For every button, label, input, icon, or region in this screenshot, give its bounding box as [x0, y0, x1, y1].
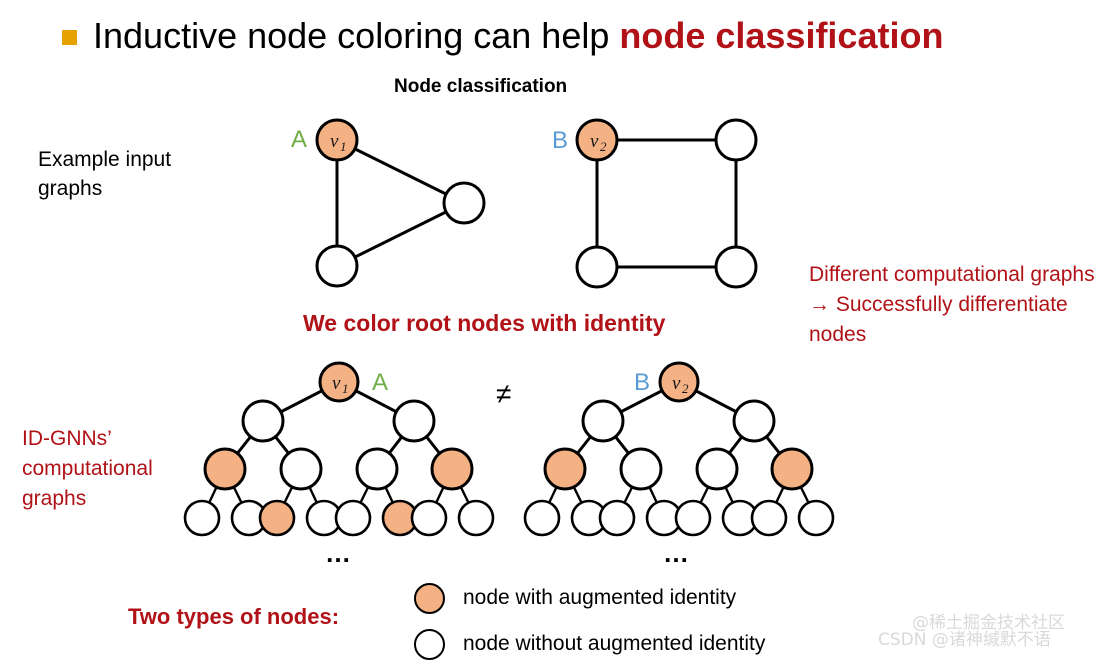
tree-left-root-subscript: 1 — [342, 381, 349, 396]
tree-left-l2-node-3 — [357, 449, 397, 489]
square-node-v2 — [577, 120, 617, 160]
square-node-bottom-right — [716, 247, 756, 287]
tree-left-l1-node-1 — [243, 401, 283, 441]
input-graph-square: v 2 B — [552, 120, 756, 287]
legend-item-plain: node without augmented identity — [414, 621, 765, 667]
tree-right-leaf-1 — [525, 501, 559, 535]
id-gnns-computational-graphs-label: ID-GNNs’ computational graphs — [22, 424, 207, 514]
two-types-of-nodes-label: Two types of nodes: — [128, 604, 339, 630]
tree-right-graph-label-b: B — [634, 369, 650, 396]
tree-right-leaf-8 — [799, 501, 833, 535]
bullet-square-icon — [62, 30, 77, 45]
triangle-node-right — [444, 183, 484, 223]
tree-left-l2-node-4 — [432, 449, 472, 489]
tree-right-l2-node-2 — [621, 449, 661, 489]
triangle-v1-subscript: 1 — [340, 139, 347, 154]
square-v2-subscript: 2 — [600, 139, 607, 154]
tree-right-root-label: v — [672, 373, 681, 394]
tree-left-leaf-2 — [232, 501, 266, 535]
not-equal-symbol: ≠ — [496, 378, 511, 410]
empty-circle-icon — [414, 629, 445, 660]
example-input-graphs-label: Example input graphs — [38, 145, 218, 203]
tree-right-l2-node-3 — [697, 449, 737, 489]
title-emphasis-part: node classification — [619, 15, 943, 56]
title-plain-part: Inductive node coloring can help — [93, 15, 619, 56]
different-computational-graphs-note: Different computational graphs → Success… — [809, 260, 1099, 350]
triangle-node-bottom — [317, 246, 357, 286]
tree-left-graph-label-a: A — [372, 369, 388, 396]
tree-right-leaf-7 — [752, 501, 786, 535]
node-type-legend: node with augmented identity node withou… — [414, 575, 765, 667]
tree-left-root-label: v — [332, 373, 341, 394]
tree-right-leaf-6 — [723, 501, 757, 535]
ellipsis-right: … — [663, 538, 692, 569]
slide-canvas: Inductive node coloring can help node cl… — [0, 0, 1099, 661]
tree-right-leaf-5 — [676, 501, 710, 535]
legend-label-plain: node without augmented identity — [463, 632, 765, 656]
tree-left-root-v1 — [320, 363, 358, 401]
tree-right-l1-node-1 — [583, 401, 623, 441]
tree-right-leaf-3 — [600, 501, 634, 535]
triangle-node-v1 — [317, 120, 357, 160]
tree-left-l2-node-2 — [281, 449, 321, 489]
color-root-nodes-heading: We color root nodes with identity — [303, 310, 665, 337]
tree-left-l2-node-1 — [205, 449, 245, 489]
triangle-graph-label-a: A — [291, 126, 307, 153]
tree-right-leaf-2 — [572, 501, 606, 535]
section-subtitle: Node classification — [394, 76, 567, 98]
tree-right-l2-node-4 — [772, 449, 812, 489]
tree-left-leaf-3 — [260, 501, 294, 535]
input-graph-triangle: v 1 A — [291, 120, 484, 286]
tree-left-leaf-6 — [383, 501, 417, 535]
square-v2-label: v — [590, 131, 599, 152]
tree-left-leaf-7 — [412, 501, 446, 535]
legend-label-identity: node with augmented identity — [463, 586, 736, 610]
tree-left-l1-node-2 — [394, 401, 434, 441]
square-node-top-right — [716, 120, 756, 160]
triangle-v1-label: v — [330, 131, 339, 152]
tree-right-leaf-4 — [647, 501, 681, 535]
square-graph-label-b: B — [552, 127, 568, 154]
tree-left-leaf-5 — [336, 501, 370, 535]
ellipsis-left: … — [325, 538, 354, 569]
tree-right-l2-node-1 — [545, 449, 585, 489]
legend-item-identity: node with augmented identity — [414, 575, 765, 621]
filled-circle-icon — [414, 583, 445, 614]
slide-title: Inductive node coloring can help node cl… — [62, 14, 943, 58]
watermark-csdn: CSDN @诸神缄默不语 — [878, 625, 1051, 650]
title-text: Inductive node coloring can help node cl… — [93, 14, 943, 58]
square-node-bottom-left — [577, 247, 617, 287]
tree-left-leaf-8 — [459, 501, 493, 535]
tree-right-root-v2 — [660, 363, 698, 401]
computational-tree-left: v 1 A — [185, 363, 493, 535]
tree-right-root-subscript: 2 — [682, 381, 689, 396]
tree-right-l1-node-2 — [734, 401, 774, 441]
computational-tree-right: v 2 B — [525, 363, 833, 535]
tree-left-leaf-4 — [307, 501, 341, 535]
